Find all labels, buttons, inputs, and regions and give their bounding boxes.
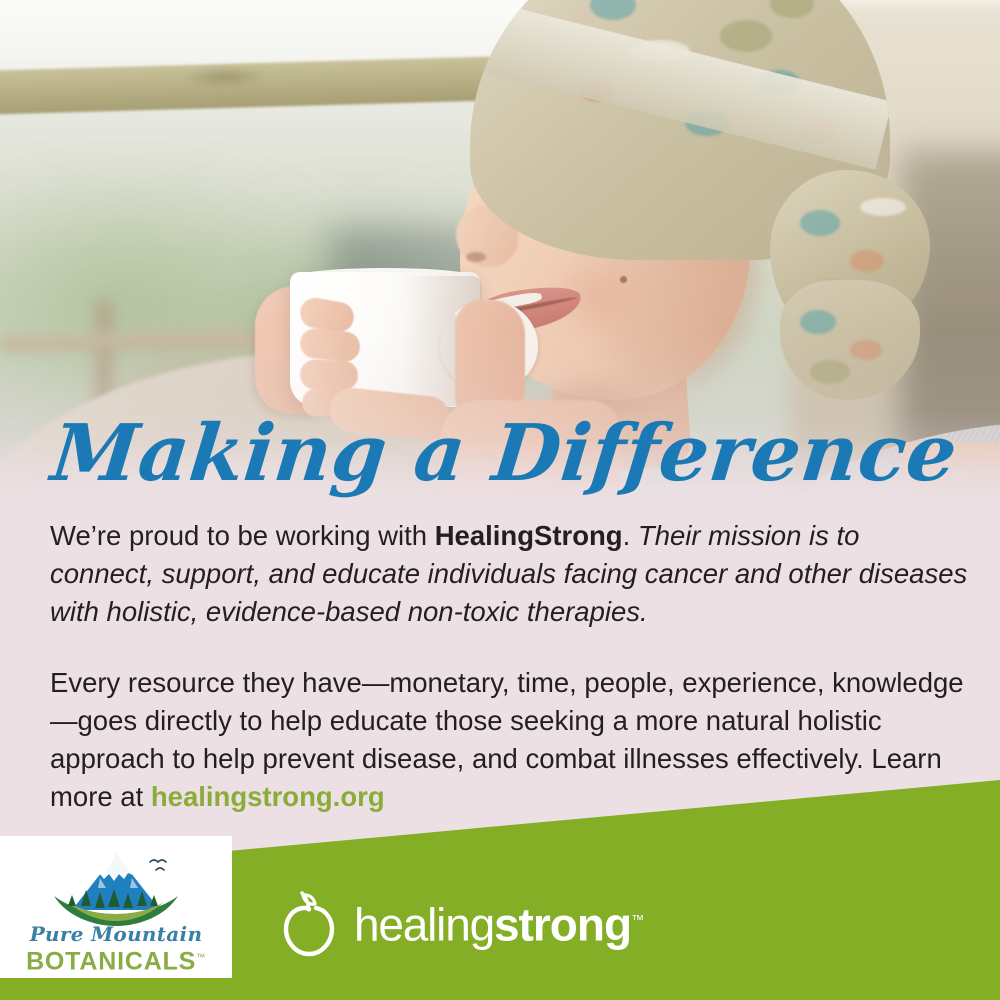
intro-text: We’re proud to be working with [50,520,435,551]
nostril [466,252,486,262]
healingstrong-wordmark: healingstrong™ [354,896,644,948]
beauty-mark [620,276,627,283]
apple-icon [272,884,346,958]
brand-name: HealingStrong [435,520,623,551]
pure-mountain-botanicals-logo[interactable]: Pure Mountain BOTANICALS™ [0,836,232,978]
healingstrong-link[interactable]: healingstrong.org [151,781,385,812]
pmb-trademark-symbol: ™ [196,952,206,962]
marketing-graphic: Making a Difference We’re proud to be wo… [0,0,1000,1000]
scarf-band [470,0,890,170]
paragraph-one: We’re proud to be working with HealingSt… [50,517,970,631]
strong-text: strong [494,898,631,950]
healing-text: healing [354,898,494,950]
page-title: Making a Difference [48,415,756,493]
pmb-script-line: Pure Mountain [0,924,232,944]
pmb-caps-text: BOTANICALS [26,947,196,975]
sentence-separator: . [623,520,638,551]
mountain-logo-icon [38,848,194,928]
birds-icon [150,860,166,870]
healingstrong-trademark-symbol: ™ [631,912,644,927]
body-copy: We’re proud to be working with HealingSt… [50,517,970,816]
pure-mountain-botanicals-wordmark: Pure Mountain BOTANICALS™ [0,924,232,975]
paragraph-two: Every resource they have—monetary, time,… [50,664,970,816]
pmb-caps-line: BOTANICALS™ [26,944,206,975]
